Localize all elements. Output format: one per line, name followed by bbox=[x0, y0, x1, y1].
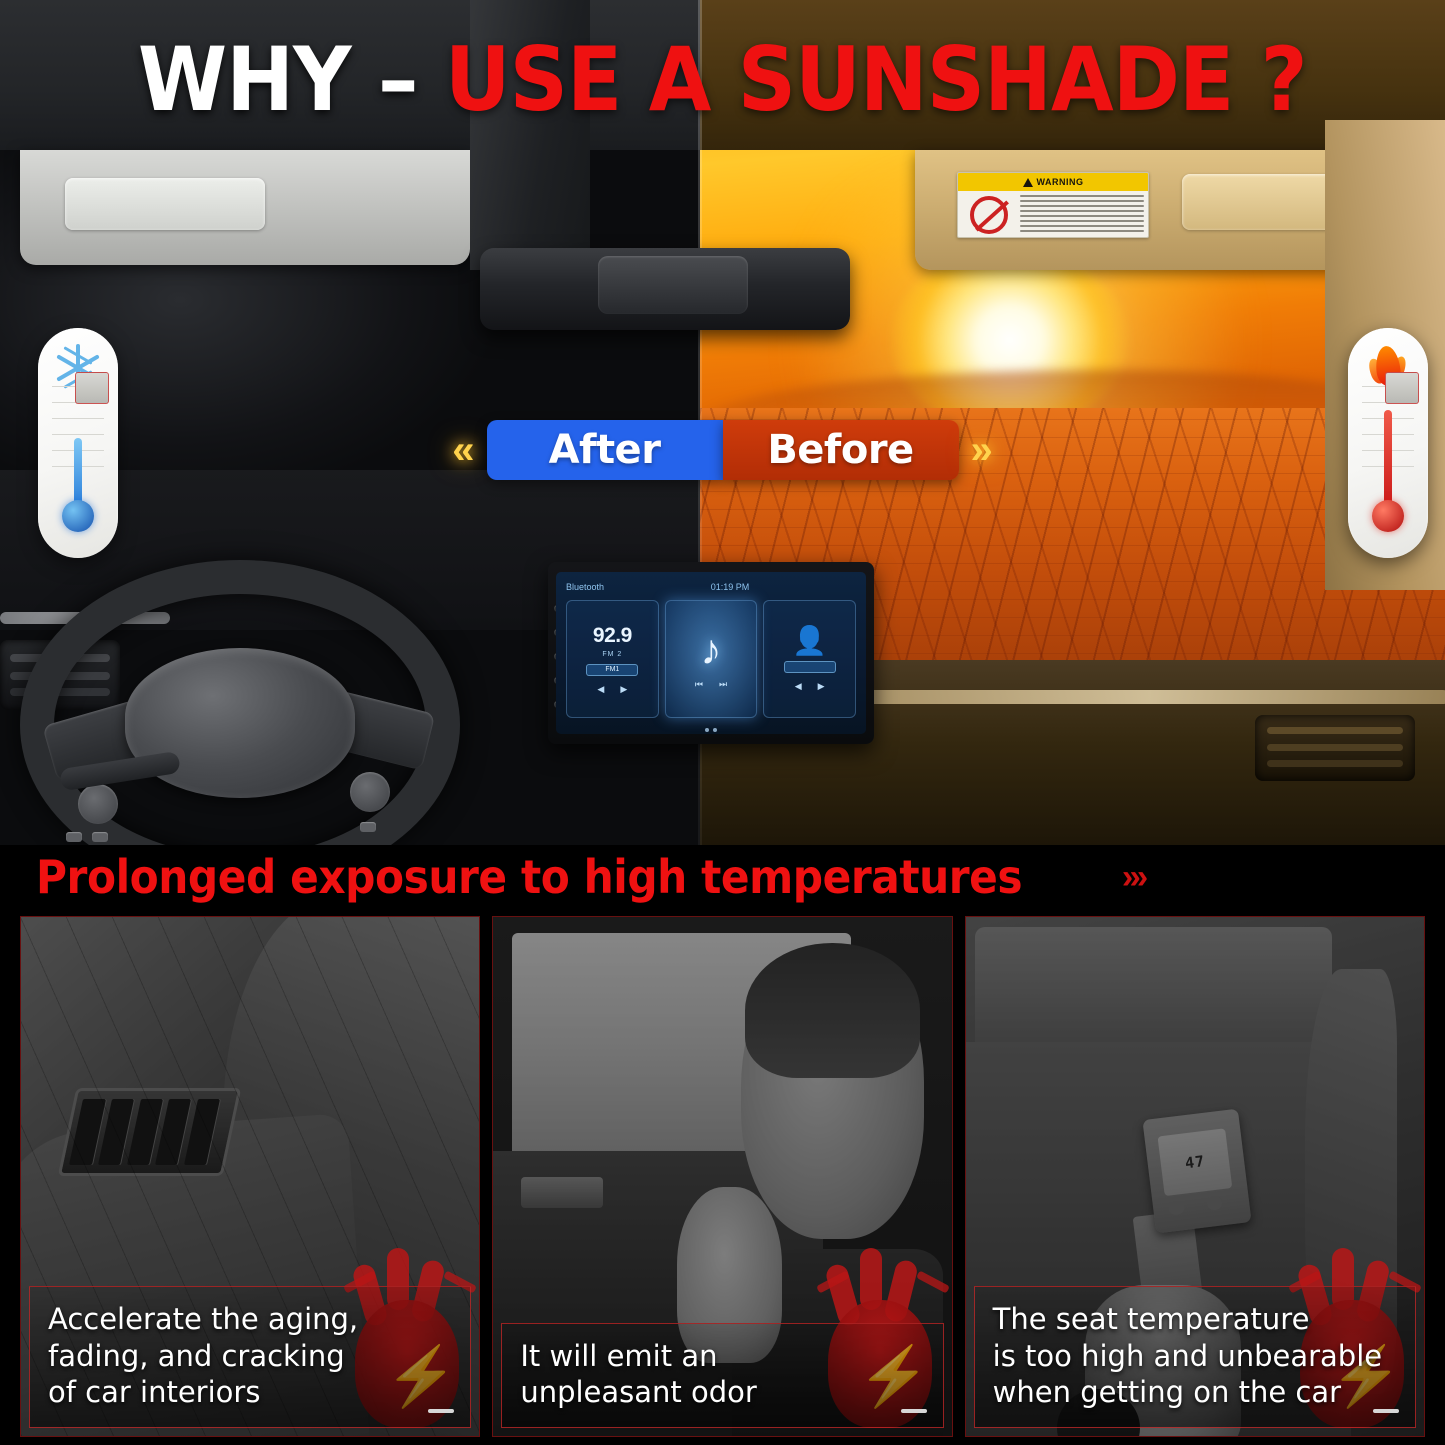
thermometer-stem-cold bbox=[75, 372, 109, 404]
hero-comparison-image: WARNING bbox=[0, 0, 1445, 845]
page-indicator-dots[interactable] bbox=[556, 728, 866, 732]
phone-contact-chip[interactable] bbox=[784, 661, 836, 673]
after-badge: After bbox=[487, 420, 723, 480]
head-unit-tiles: 92.9 FM 2 FM1 ◀ ▶ ♪ ⏮ ⏭ bbox=[566, 600, 856, 718]
warning-header: WARNING bbox=[958, 173, 1148, 191]
thermometer-reading: 47 bbox=[1184, 1152, 1206, 1172]
radio-preset-chip[interactable]: FM1 bbox=[586, 664, 638, 676]
phone-prev-button[interactable]: ◀ bbox=[795, 681, 802, 692]
caption-line-2: fading, and cracking bbox=[48, 1338, 456, 1375]
infrared-thermometer-icon: 47 bbox=[1142, 1109, 1251, 1234]
caption-dash bbox=[428, 1409, 454, 1413]
product-infographic: WARNING bbox=[0, 0, 1445, 1445]
radio-next-button[interactable]: ▶ bbox=[620, 684, 627, 695]
warning-pictogram bbox=[958, 191, 1020, 238]
mirror-mount bbox=[598, 256, 748, 314]
media-next-button[interactable]: ⏭ bbox=[719, 679, 727, 690]
infotainment-head-unit[interactable]: Bluetooth 01:19 PM 92.9 FM 2 FM1 ◀ ▶ bbox=[548, 562, 874, 744]
rearview-mirror bbox=[480, 248, 850, 330]
title-white-part: WHY bbox=[138, 28, 378, 131]
bluetooth-status-label: Bluetooth bbox=[566, 582, 604, 592]
sun-visor-left bbox=[20, 150, 470, 265]
page-title: WHY – USE A SUNSHADE ? bbox=[138, 36, 1307, 124]
section-chevrons-icon: »› bbox=[1122, 858, 1144, 897]
thermometer-bulb-cold bbox=[62, 500, 94, 532]
warning-triangle-icon bbox=[1023, 178, 1033, 187]
caption-line-2: is too high and unbearable bbox=[993, 1338, 1401, 1375]
chevron-left-icon: « bbox=[452, 430, 474, 470]
warning-body bbox=[958, 191, 1148, 238]
steering-button-3 bbox=[360, 822, 376, 832]
media-prev-button[interactable]: ⏮ bbox=[695, 679, 703, 690]
panel-caption: Accelerate the aging, fading, and cracki… bbox=[29, 1286, 471, 1428]
media-controls[interactable]: ⏮ ⏭ bbox=[695, 679, 727, 690]
phone-controls[interactable]: ◀ ▶ bbox=[795, 681, 825, 692]
headline-bar: WHY – USE A SUNSHADE ? bbox=[0, 28, 1445, 132]
caption-line-1: The seat temperature bbox=[993, 1301, 1401, 1338]
panel-unpleasant-odor: ⚡ It will emit an unpleasant odor bbox=[492, 916, 952, 1437]
chevron-right-icon: » bbox=[971, 430, 993, 470]
radio-band: FM 2 bbox=[602, 651, 622, 658]
consequence-panels: ⚡ Accelerate the aging, fading, and crac… bbox=[0, 916, 1445, 1445]
phone-next-button[interactable]: ▶ bbox=[818, 681, 825, 692]
phone-tile[interactable]: 👤 ◀ ▶ bbox=[763, 600, 856, 718]
before-badge: Before bbox=[723, 420, 959, 480]
panel-interior-aging: ⚡ Accelerate the aging, fading, and crac… bbox=[20, 916, 480, 1437]
caption-line-2: unpleasant odor bbox=[520, 1374, 928, 1411]
person-hair bbox=[745, 943, 919, 1078]
caption-line-3: of car interiors bbox=[48, 1374, 456, 1411]
radio-controls[interactable]: ◀ ▶ bbox=[597, 684, 627, 695]
radio-prev-button[interactable]: ◀ bbox=[597, 684, 604, 695]
air-vent-right bbox=[1255, 715, 1415, 781]
caption-line-1: Accelerate the aging, bbox=[48, 1301, 456, 1338]
thermometer-button-2 bbox=[1206, 1196, 1223, 1211]
radio-tile[interactable]: 92.9 FM 2 FM1 ◀ ▶ bbox=[566, 600, 659, 718]
thermometer-stem-hot bbox=[1385, 372, 1419, 404]
warning-fineprint bbox=[1020, 191, 1148, 238]
music-note-icon: ♪ bbox=[701, 629, 722, 671]
dash-trim-right bbox=[850, 690, 1445, 704]
thermometer-bulb-hot bbox=[1372, 500, 1404, 532]
section-heading: Prolonged exposure to high temperatures … bbox=[0, 838, 1445, 916]
panel-caption: It will emit an unpleasant odor bbox=[501, 1323, 943, 1428]
caption-line-1: It will emit an bbox=[520, 1338, 928, 1375]
title-dash: – bbox=[378, 28, 445, 131]
panel-caption: The seat temperature is too high and unb… bbox=[974, 1286, 1416, 1428]
thermometer-display: 47 bbox=[1158, 1129, 1232, 1196]
door-handle bbox=[521, 1177, 603, 1208]
caption-line-3: when getting on the car bbox=[993, 1374, 1401, 1411]
warning-text: WARNING bbox=[1037, 177, 1084, 187]
contact-person-icon: 👤 bbox=[792, 627, 827, 655]
caption-dash bbox=[901, 1409, 927, 1413]
steering-wheel bbox=[20, 560, 460, 845]
thermometer-button-1 bbox=[1168, 1201, 1185, 1216]
media-tile[interactable]: ♪ ⏮ ⏭ bbox=[665, 600, 758, 718]
visor-warning-label: WARNING bbox=[957, 172, 1149, 238]
head-unit-statusbar: Bluetooth 01:19 PM bbox=[566, 580, 856, 594]
head-unit-screen[interactable]: Bluetooth 01:19 PM 92.9 FM 2 FM1 ◀ ▶ bbox=[556, 572, 866, 734]
before-after-badge-row: « After Before » bbox=[0, 414, 1445, 486]
caption-dash bbox=[1373, 1409, 1399, 1413]
title-red-part: USE A SUNSHADE ? bbox=[445, 28, 1307, 131]
steering-dpad-left bbox=[78, 784, 118, 824]
panel-seat-temperature: 47 ⚡ The seat temperature is too h bbox=[965, 916, 1425, 1437]
section-heading-text: Prolonged exposure to high temperatures bbox=[36, 850, 1022, 904]
clock-label: 01:19 PM bbox=[711, 582, 750, 592]
steering-dpad-right bbox=[350, 772, 390, 812]
no-child-seat-icon bbox=[970, 196, 1008, 234]
radio-frequency: 92.9 bbox=[593, 624, 632, 648]
